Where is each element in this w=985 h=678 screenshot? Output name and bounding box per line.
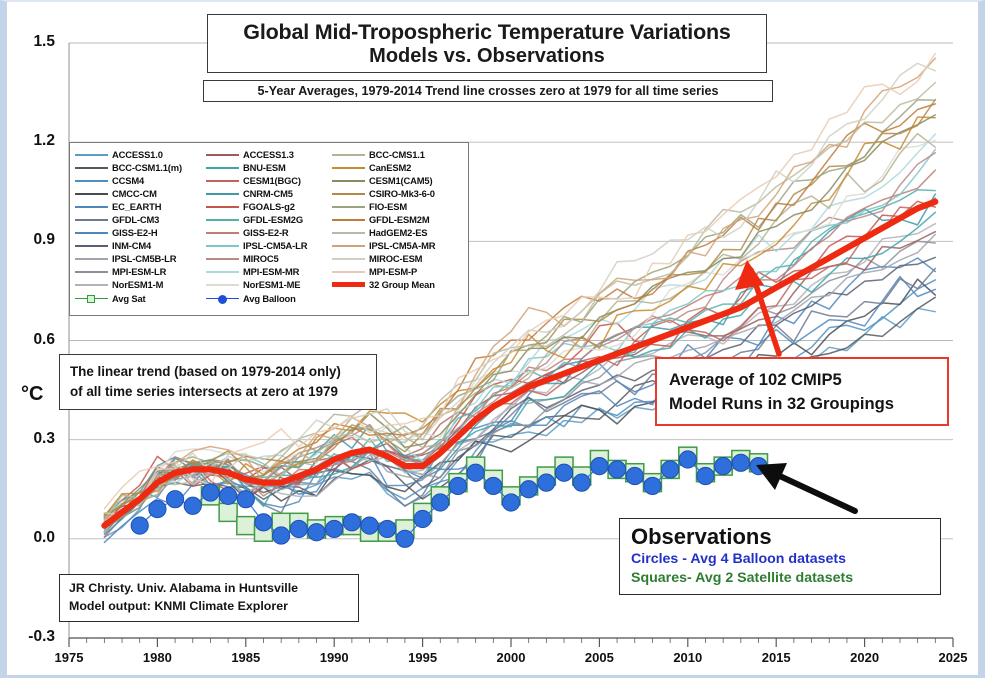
x-axis-tick-label: 2005 xyxy=(574,650,624,665)
observations-squares-label: Squares- Avg 2 Satellite datasets xyxy=(631,569,929,588)
legend-item-label: BNU-ESM xyxy=(243,162,286,173)
legend-item[interactable]: IPSL-CM5A-MR xyxy=(332,239,435,252)
legend-color-swatch xyxy=(206,292,239,305)
legend-item[interactable]: 32 Group Mean xyxy=(332,278,435,291)
cmip-arrow-head xyxy=(735,260,764,290)
balloon-data-point xyxy=(732,454,749,471)
legend-color-swatch xyxy=(332,187,365,200)
legend-item[interactable]: NorESM1-M xyxy=(75,278,182,291)
observations-annotation-box: Observations Circles - Avg 4 Balloon dat… xyxy=(619,518,941,595)
y-axis-tick-label: 0.6 xyxy=(11,331,55,349)
cmip-annotation-line1: Average of 102 CMIP5 xyxy=(669,368,935,392)
legend-item-label: MPI-ESM-P xyxy=(369,266,417,277)
legend-item-label: EC_EARTH xyxy=(112,201,161,212)
legend-item-label: FIO-ESM xyxy=(369,201,407,212)
balloon-data-point xyxy=(679,451,696,468)
legend-item-label: IPSL-CM5A-MR xyxy=(369,240,435,251)
chart-figure: Global Mid-Tropospheric Temperature Vari… xyxy=(0,0,985,678)
x-axis-tick-label: 2020 xyxy=(840,650,890,665)
legend-color-swatch xyxy=(332,200,365,213)
legend-item[interactable]: BNU-ESM xyxy=(206,161,307,174)
legend-item[interactable]: CCSM4 xyxy=(75,174,182,187)
legend-column: ACCESS1.3BNU-ESMCESM1(BGC)CNRM-CM5FGOALS… xyxy=(206,148,307,305)
balloon-data-point xyxy=(502,494,519,511)
legend-color-swatch xyxy=(75,278,108,291)
legend-item-label: 32 Group Mean xyxy=(369,279,435,290)
legend-item[interactable]: BCC-CMS1.1 xyxy=(332,148,435,161)
observations-circles-label: Circles - Avg 4 Balloon datasets xyxy=(631,550,929,569)
x-axis-tick-label: 1995 xyxy=(398,650,448,665)
balloon-data-point xyxy=(149,500,166,517)
chart-title-box: Global Mid-Tropospheric Temperature Vari… xyxy=(207,14,767,73)
balloon-data-point xyxy=(608,461,625,478)
x-axis-tick-label: 2025 xyxy=(928,650,978,665)
legend-item[interactable]: EC_EARTH xyxy=(75,200,182,213)
x-axis-tick-label: 1985 xyxy=(221,650,271,665)
legend-color-swatch xyxy=(332,148,365,161)
legend-item-label: Avg Sat xyxy=(112,293,146,304)
x-axis-tick-label: 2000 xyxy=(486,650,536,665)
legend-item-label: CESM1(BGC) xyxy=(243,175,301,186)
legend-item-label: HadGEM2-ES xyxy=(369,227,427,238)
legend-color-swatch xyxy=(206,252,239,265)
legend-item-label: GISS-E2-H xyxy=(112,227,158,238)
cmip-annotation-line2: Model Runs in 32 Groupings xyxy=(669,392,935,416)
legend-color-swatch xyxy=(332,213,365,226)
legend-item-label: ACCESS1.3 xyxy=(243,149,294,160)
balloon-data-point xyxy=(343,514,360,531)
legend-item-label: GFDL-ESM2G xyxy=(243,214,303,225)
legend-color-swatch xyxy=(75,292,108,305)
balloon-data-point xyxy=(555,464,572,481)
balloon-data-point xyxy=(573,474,590,491)
legend-color-swatch xyxy=(75,174,108,187)
legend-color-swatch xyxy=(206,239,239,252)
legend-color-swatch xyxy=(75,148,108,161)
legend-item-label: IPSL-CM5A-LR xyxy=(243,240,307,251)
legend-item[interactable]: Avg Sat xyxy=(75,292,182,305)
legend-item[interactable]: GISS-E2-H xyxy=(75,226,182,239)
x-axis-tick-label: 1990 xyxy=(309,650,359,665)
legend-item-label: FGOALS-g2 xyxy=(243,201,295,212)
legend-item-label: CanESM2 xyxy=(369,162,411,173)
balloon-data-point xyxy=(432,494,449,511)
legend-circle-marker xyxy=(218,295,227,304)
legend-item[interactable]: ACCESS1.0 xyxy=(75,148,182,161)
legend-item-label: MIROC5 xyxy=(243,253,279,264)
legend-color-swatch xyxy=(75,226,108,239)
legend-item-label: MIROC-ESM xyxy=(369,253,422,264)
balloon-data-point xyxy=(131,517,148,534)
balloon-data-point xyxy=(697,467,714,484)
legend-item-label: CSIRO-Mk3-6-0 xyxy=(369,188,435,199)
y-axis-tick-label: 1.5 xyxy=(11,33,55,51)
legend-color-swatch xyxy=(75,200,108,213)
legend-item[interactable]: FIO-ESM xyxy=(332,200,435,213)
legend-item[interactable]: CNRM-CM5 xyxy=(206,187,307,200)
legend-color-swatch xyxy=(206,187,239,200)
legend-color-swatch xyxy=(332,278,365,291)
balloon-data-point xyxy=(414,510,431,527)
balloon-data-point xyxy=(591,458,608,475)
legend-item[interactable]: CanESM2 xyxy=(332,161,435,174)
balloon-data-point xyxy=(220,487,237,504)
legend-color-swatch xyxy=(206,278,239,291)
legend-item-label: BCC-CSM1.1(m) xyxy=(112,162,182,173)
balloon-data-point xyxy=(485,477,502,494)
balloon-data-point xyxy=(662,461,679,478)
x-axis-tick-label: 2010 xyxy=(663,650,713,665)
legend-color-swatch xyxy=(75,265,108,278)
legend-item-label: NorESM1-M xyxy=(112,279,163,290)
legend-item[interactable]: IPSL-CM5A-LR xyxy=(206,239,307,252)
legend-color-swatch xyxy=(75,161,108,174)
y-axis-tick-label: 0.0 xyxy=(11,529,55,547)
legend-item-label: ACCESS1.0 xyxy=(112,149,163,160)
legend-color-swatch xyxy=(332,226,365,239)
y-axis-tick-label: 0.9 xyxy=(11,231,55,249)
legend-item[interactable]: MIROC5 xyxy=(206,252,307,265)
y-axis-tick-label: 1.2 xyxy=(11,132,55,150)
chart-title-line2: Models vs. Observations xyxy=(218,44,756,68)
observations-title: Observations xyxy=(631,524,929,550)
legend-item-label: BCC-CMS1.1 xyxy=(369,149,425,160)
balloon-data-point xyxy=(520,481,537,498)
chart-title-line1: Global Mid-Tropospheric Temperature Vari… xyxy=(218,20,756,44)
legend-color-swatch xyxy=(332,265,365,278)
legend-item[interactable]: MPI-ESM-LR xyxy=(75,265,182,278)
legend-item[interactable]: GFDL-CM3 xyxy=(75,213,182,226)
legend-color-swatch xyxy=(332,174,365,187)
legend-color-swatch xyxy=(206,174,239,187)
legend-color-swatch xyxy=(75,187,108,200)
credit-line1: JR Christy. Univ. Alabama in Huntsville xyxy=(69,580,349,598)
balloon-data-point xyxy=(255,514,272,531)
legend-item[interactable]: CESM1(CAM5) xyxy=(332,174,435,187)
legend-item[interactable]: FGOALS-g2 xyxy=(206,200,307,213)
legend-color-swatch xyxy=(206,213,239,226)
balloon-data-point xyxy=(166,491,183,508)
legend-item[interactable]: BCC-CSM1.1(m) xyxy=(75,161,182,174)
legend-item[interactable]: CSIRO-Mk3-6-0 xyxy=(332,187,435,200)
legend-item-label: CMCC-CM xyxy=(112,188,157,199)
legend-color-swatch xyxy=(332,252,365,265)
legend-color-swatch xyxy=(75,239,108,252)
legend-item[interactable]: MPI-ESM-MR xyxy=(206,265,307,278)
legend-color-swatch xyxy=(206,148,239,161)
legend-item[interactable]: GFDL-ESM2G xyxy=(206,213,307,226)
balloon-data-point xyxy=(626,467,643,484)
legend-color-swatch xyxy=(206,161,239,174)
legend-item[interactable]: CESM1(BGC) xyxy=(206,174,307,187)
legend-item[interactable]: NorESM1-ME xyxy=(206,278,307,291)
y-axis-unit-label: °C xyxy=(21,383,43,406)
legend-color-swatch xyxy=(332,239,365,252)
legend-item-label: MPI-ESM-LR xyxy=(112,266,166,277)
legend-item-label: CESM1(CAM5) xyxy=(369,175,432,186)
balloon-data-point xyxy=(361,517,378,534)
x-axis-tick-label: 1980 xyxy=(132,650,182,665)
balloon-data-point xyxy=(449,477,466,494)
legend-column: ACCESS1.0BCC-CSM1.1(m)CCSM4CMCC-CMEC_EAR… xyxy=(75,148,182,305)
legend-item[interactable]: Avg Balloon xyxy=(206,292,307,305)
legend-color-swatch xyxy=(75,213,108,226)
y-axis-tick-label: 0.3 xyxy=(11,430,55,448)
legend-item[interactable]: MIROC-ESM xyxy=(332,252,435,265)
balloon-data-point xyxy=(184,497,201,514)
cmip-annotation-box: Average of 102 CMIP5 Model Runs in 32 Gr… xyxy=(655,357,949,426)
legend-item-label: CCSM4 xyxy=(112,175,144,186)
balloon-data-point xyxy=(715,458,732,475)
trend-annotation-line1: The linear trend (based on 1979-2014 onl… xyxy=(70,362,366,382)
legend-color-swatch xyxy=(332,161,365,174)
credit-box: JR Christy. Univ. Alabama in Huntsville … xyxy=(59,574,359,622)
chart-legend: ACCESS1.0BCC-CSM1.1(m)CCSM4CMCC-CMEC_EAR… xyxy=(69,142,469,316)
balloon-data-point xyxy=(379,520,396,537)
balloon-data-point xyxy=(202,484,219,501)
legend-item-label: CNRM-CM5 xyxy=(243,188,293,199)
balloon-data-point xyxy=(644,477,661,494)
trend-annotation-box: The linear trend (based on 1979-2014 onl… xyxy=(59,354,377,410)
credit-line2: Model output: KNMI Climate Explorer xyxy=(69,598,349,616)
legend-item-label: MPI-ESM-MR xyxy=(243,266,299,277)
legend-item[interactable]: HadGEM2-ES xyxy=(332,226,435,239)
balloon-data-point xyxy=(273,527,290,544)
legend-item-label: NorESM1-ME xyxy=(243,279,300,290)
x-axis-tick-label: 2015 xyxy=(751,650,801,665)
legend-item[interactable]: ACCESS1.3 xyxy=(206,148,307,161)
balloon-data-point xyxy=(467,464,484,481)
legend-square-marker xyxy=(87,295,95,303)
legend-item-label: GFDL-CM3 xyxy=(112,214,159,225)
chart-subtitle-box: 5-Year Averages, 1979-2014 Trend line cr… xyxy=(203,80,773,102)
y-axis-tick-label: -0.3 xyxy=(11,628,55,646)
legend-item-label: GISS-E2-R xyxy=(243,227,289,238)
legend-column: BCC-CMS1.1CanESM2CESM1(CAM5)CSIRO-Mk3-6-… xyxy=(332,148,435,292)
balloon-data-point xyxy=(290,520,307,537)
legend-color-swatch xyxy=(206,226,239,239)
legend-item[interactable]: GISS-E2-R xyxy=(206,226,307,239)
satellite-data-point xyxy=(219,503,237,521)
balloon-data-point xyxy=(396,530,413,547)
trend-annotation-line2: of all time series intersects at zero at… xyxy=(70,382,366,402)
x-axis-tick-label: 1975 xyxy=(44,650,94,665)
legend-item-label: GFDL-ESM2M xyxy=(369,214,429,225)
balloon-data-point xyxy=(308,524,325,541)
legend-item-label: IPSL-CM5B-LR xyxy=(112,253,176,264)
legend-color-swatch xyxy=(75,252,108,265)
legend-item-label: Avg Balloon xyxy=(243,293,296,304)
chart-subtitle: 5-Year Averages, 1979-2014 Trend line cr… xyxy=(212,84,764,98)
legend-item-label: INM-CM4 xyxy=(112,240,151,251)
legend-item[interactable]: MPI-ESM-P xyxy=(332,265,435,278)
legend-item[interactable]: CMCC-CM xyxy=(75,187,182,200)
legend-item[interactable]: GFDL-ESM2M xyxy=(332,213,435,226)
balloon-data-point xyxy=(538,474,555,491)
legend-item[interactable]: INM-CM4 xyxy=(75,239,182,252)
legend-color-swatch xyxy=(206,200,239,213)
legend-item[interactable]: IPSL-CM5B-LR xyxy=(75,252,182,265)
balloon-data-point xyxy=(326,520,343,537)
legend-color-swatch xyxy=(206,265,239,278)
balloon-data-point xyxy=(237,491,254,508)
observations-arrow-shaft xyxy=(769,471,855,511)
satellite-data-point xyxy=(237,517,255,535)
